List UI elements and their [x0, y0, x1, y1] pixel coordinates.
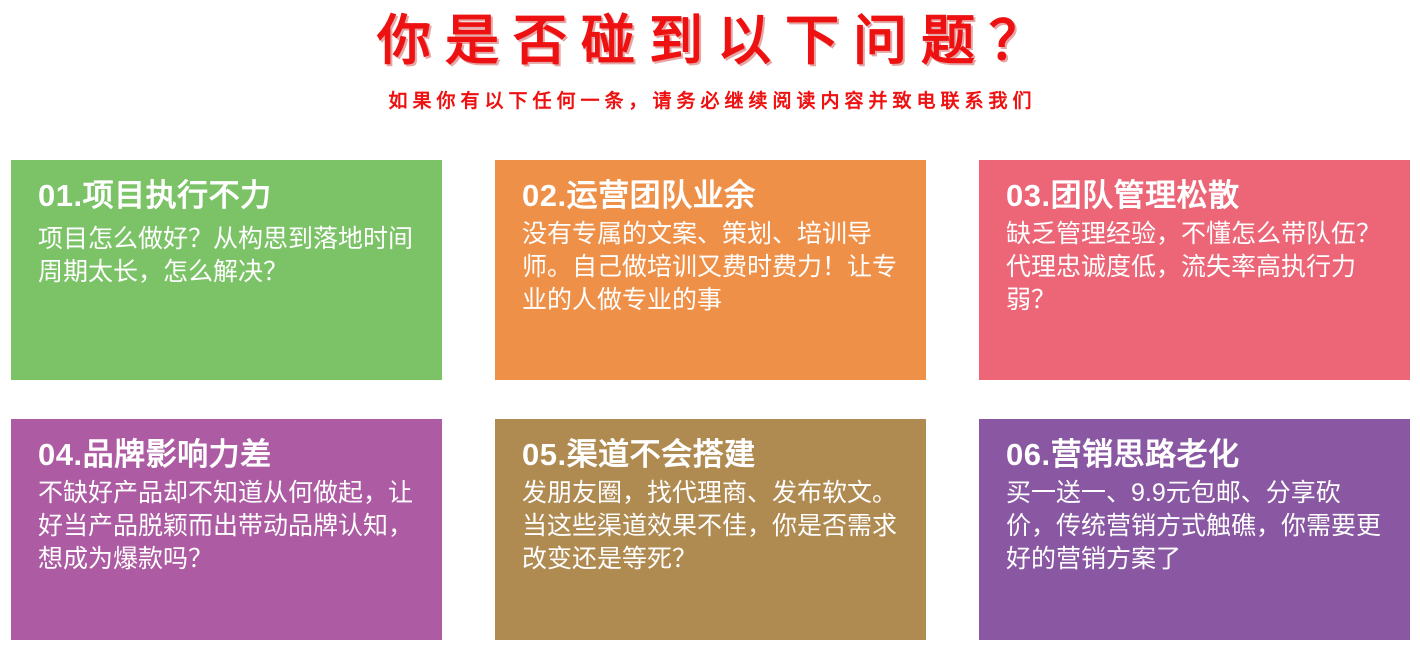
- problem-card-body: 没有专属的文案、策划、培训导师。自己做培训又费时费力！让专业的人做专业的事: [522, 218, 904, 318]
- problem-card-body: 项目怎么做好？从构思到落地时间周期太长，怎么解决？: [38, 223, 420, 290]
- page-subtitle: 如果你有以下任何一条，请务必继续阅读内容并致电联系我们: [0, 68, 1420, 111]
- problem-card-02: 02.运营团队业余 没有专属的文案、策划、培训导师。自己做培训又费时费力！让专业…: [495, 160, 926, 380]
- promo-page: 你是否碰到以下问题？ 如果你有以下任何一条，请务必继续阅读内容并致电联系我们 0…: [0, 0, 1420, 666]
- problem-card-title: 04.品牌影响力差: [38, 437, 420, 474]
- problem-card-body: 不缺好产品却不知道从何做起，让好当产品脱颖而出带动品牌认知，想成为爆款吗？: [38, 477, 420, 577]
- problem-card-04: 04.品牌影响力差 不缺好产品却不知道从何做起，让好当产品脱颖而出带动品牌认知，…: [11, 419, 442, 640]
- problem-card-title: 01.项目执行不力: [38, 178, 420, 215]
- problem-card-06: 06.营销思路老化 买一送一、9.9元包邮、分享砍价，传统营销方式触礁，你需要更…: [979, 419, 1410, 640]
- problem-card-title: 03.团队管理松散: [1006, 178, 1388, 215]
- page-header: 你是否碰到以下问题？ 如果你有以下任何一条，请务必继续阅读内容并致电联系我们: [0, 0, 1420, 111]
- problem-card-body: 发朋友圈，找代理商、发布软文。当这些渠道效果不佳，你是否需求改变还是等死？: [522, 477, 904, 577]
- page-title: 你是否碰到以下问题？: [0, 14, 1420, 68]
- problem-card-title: 06.营销思路老化: [1006, 437, 1388, 474]
- problem-card-grid: 01.项目执行不力 项目怎么做好？从构思到落地时间周期太长，怎么解决？ 02.运…: [11, 160, 1409, 640]
- problem-card-title: 05.渠道不会搭建: [522, 437, 904, 474]
- problem-card-03: 03.团队管理松散 缺乏管理经验，不懂怎么带队伍？ 代理忠诚度低，流失率高执行力…: [979, 160, 1410, 380]
- problem-card-01: 01.项目执行不力 项目怎么做好？从构思到落地时间周期太长，怎么解决？: [11, 160, 442, 380]
- problem-card-title: 02.运营团队业余: [522, 178, 904, 215]
- problem-card-body: 买一送一、9.9元包邮、分享砍价，传统营销方式触礁，你需要更好的营销方案了: [1006, 477, 1388, 577]
- problem-card-05: 05.渠道不会搭建 发朋友圈，找代理商、发布软文。当这些渠道效果不佳，你是否需求…: [495, 419, 926, 640]
- problem-card-body: 缺乏管理经验，不懂怎么带队伍？ 代理忠诚度低，流失率高执行力弱？: [1006, 218, 1388, 318]
